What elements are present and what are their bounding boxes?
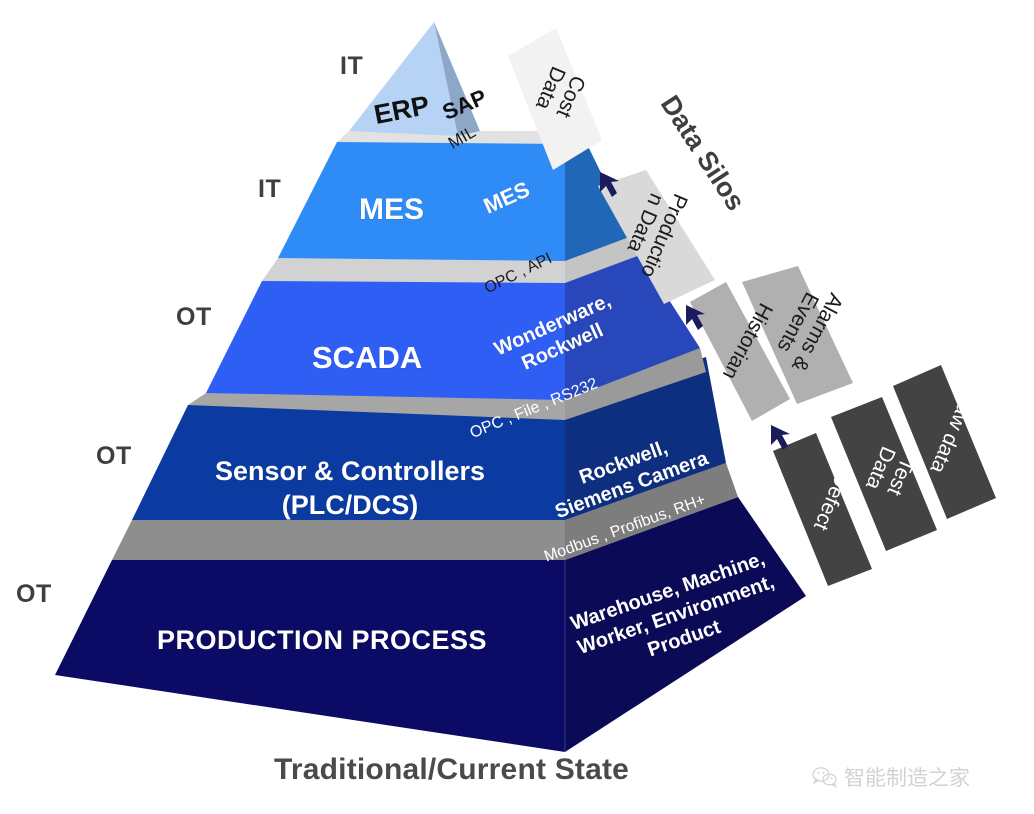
- pyramid-level-sensors-front: [132, 405, 565, 520]
- watermark: 智能制造之家: [812, 762, 970, 792]
- pyramid-svg: [0, 0, 1034, 814]
- band-modbus-front: [112, 520, 565, 560]
- wechat-icon: [812, 766, 838, 788]
- page-title: Traditional/Current State: [274, 753, 629, 787]
- band-opc-api-front: [262, 258, 565, 283]
- pyramid-level-scada-front: [206, 281, 565, 400]
- diagram-canvas: IT IT OT OT OT ERP SAP MIL MES MES OPC ,…: [0, 0, 1034, 814]
- arrow-historian-icon: [771, 425, 790, 450]
- pyramid-level-production-front: [55, 560, 565, 752]
- pyramid-level-mes-front: [278, 142, 565, 261]
- pyramid-level-apex-front: [349, 22, 458, 136]
- watermark-text: 智能制造之家: [844, 762, 970, 792]
